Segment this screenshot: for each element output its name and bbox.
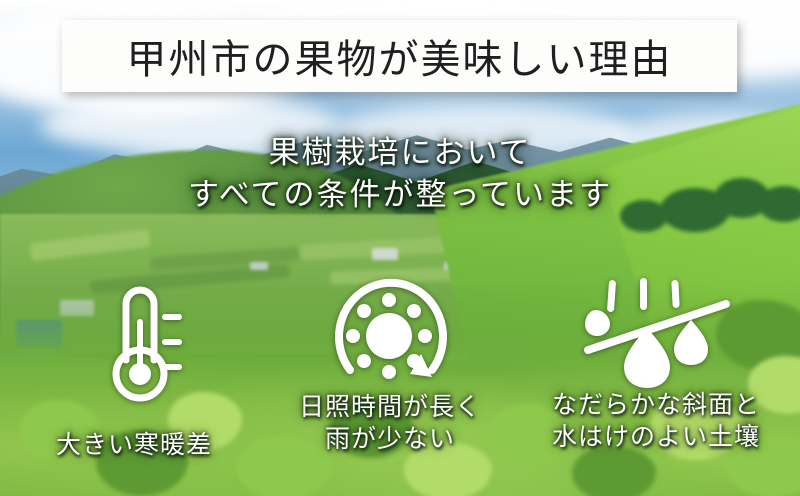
feature-label-temperature: 大きい寒暖差 (0, 430, 268, 462)
feature-label-line-1: 大きい寒暖差 (0, 430, 268, 462)
feature-item-slope: なだらかな斜面と 水はけのよい土壤 (512, 272, 800, 488)
page-title: 甲州市の果物が美味しい理由 (127, 27, 673, 85)
subtitle-line-1: 果樹栽培において (0, 132, 800, 174)
feature-label-line-1: なだらかな斜面と (512, 390, 800, 422)
slope-drainage-icon (574, 276, 744, 396)
feature-label-slope: なだらかな斜面と 水はけのよい土壤 (512, 390, 800, 453)
title-banner: 甲州市の果物が美味しい理由 (62, 20, 737, 92)
feature-item-sunshine: 日照時間が長く 雨が少ない (268, 272, 512, 488)
thermometer-icon (98, 276, 190, 416)
village-building (250, 262, 268, 270)
feature-label-sunshine: 日照時間が長く 雨が少ない (268, 392, 512, 455)
promo-banner: 甲州市の果物が美味しい理由 果樹栽培において すべての条件が整っています (0, 0, 800, 496)
feature-label-line-2: 水はけのよい土壤 (512, 422, 800, 454)
subtitle-line-2: すべての条件が整っています (0, 174, 800, 216)
feature-item-temperature: 大きい寒暖差 (0, 272, 268, 488)
subtitle-block: 果樹栽培において すべての条件が整っています (0, 132, 800, 216)
village-building (372, 248, 398, 260)
feature-row: 大きい寒暖差 日照 (0, 272, 800, 488)
sun-cycle-icon (320, 278, 460, 396)
feature-label-line-1: 日照時間が長く (268, 392, 512, 424)
feature-label-line-2: 雨が少ない (268, 424, 512, 456)
